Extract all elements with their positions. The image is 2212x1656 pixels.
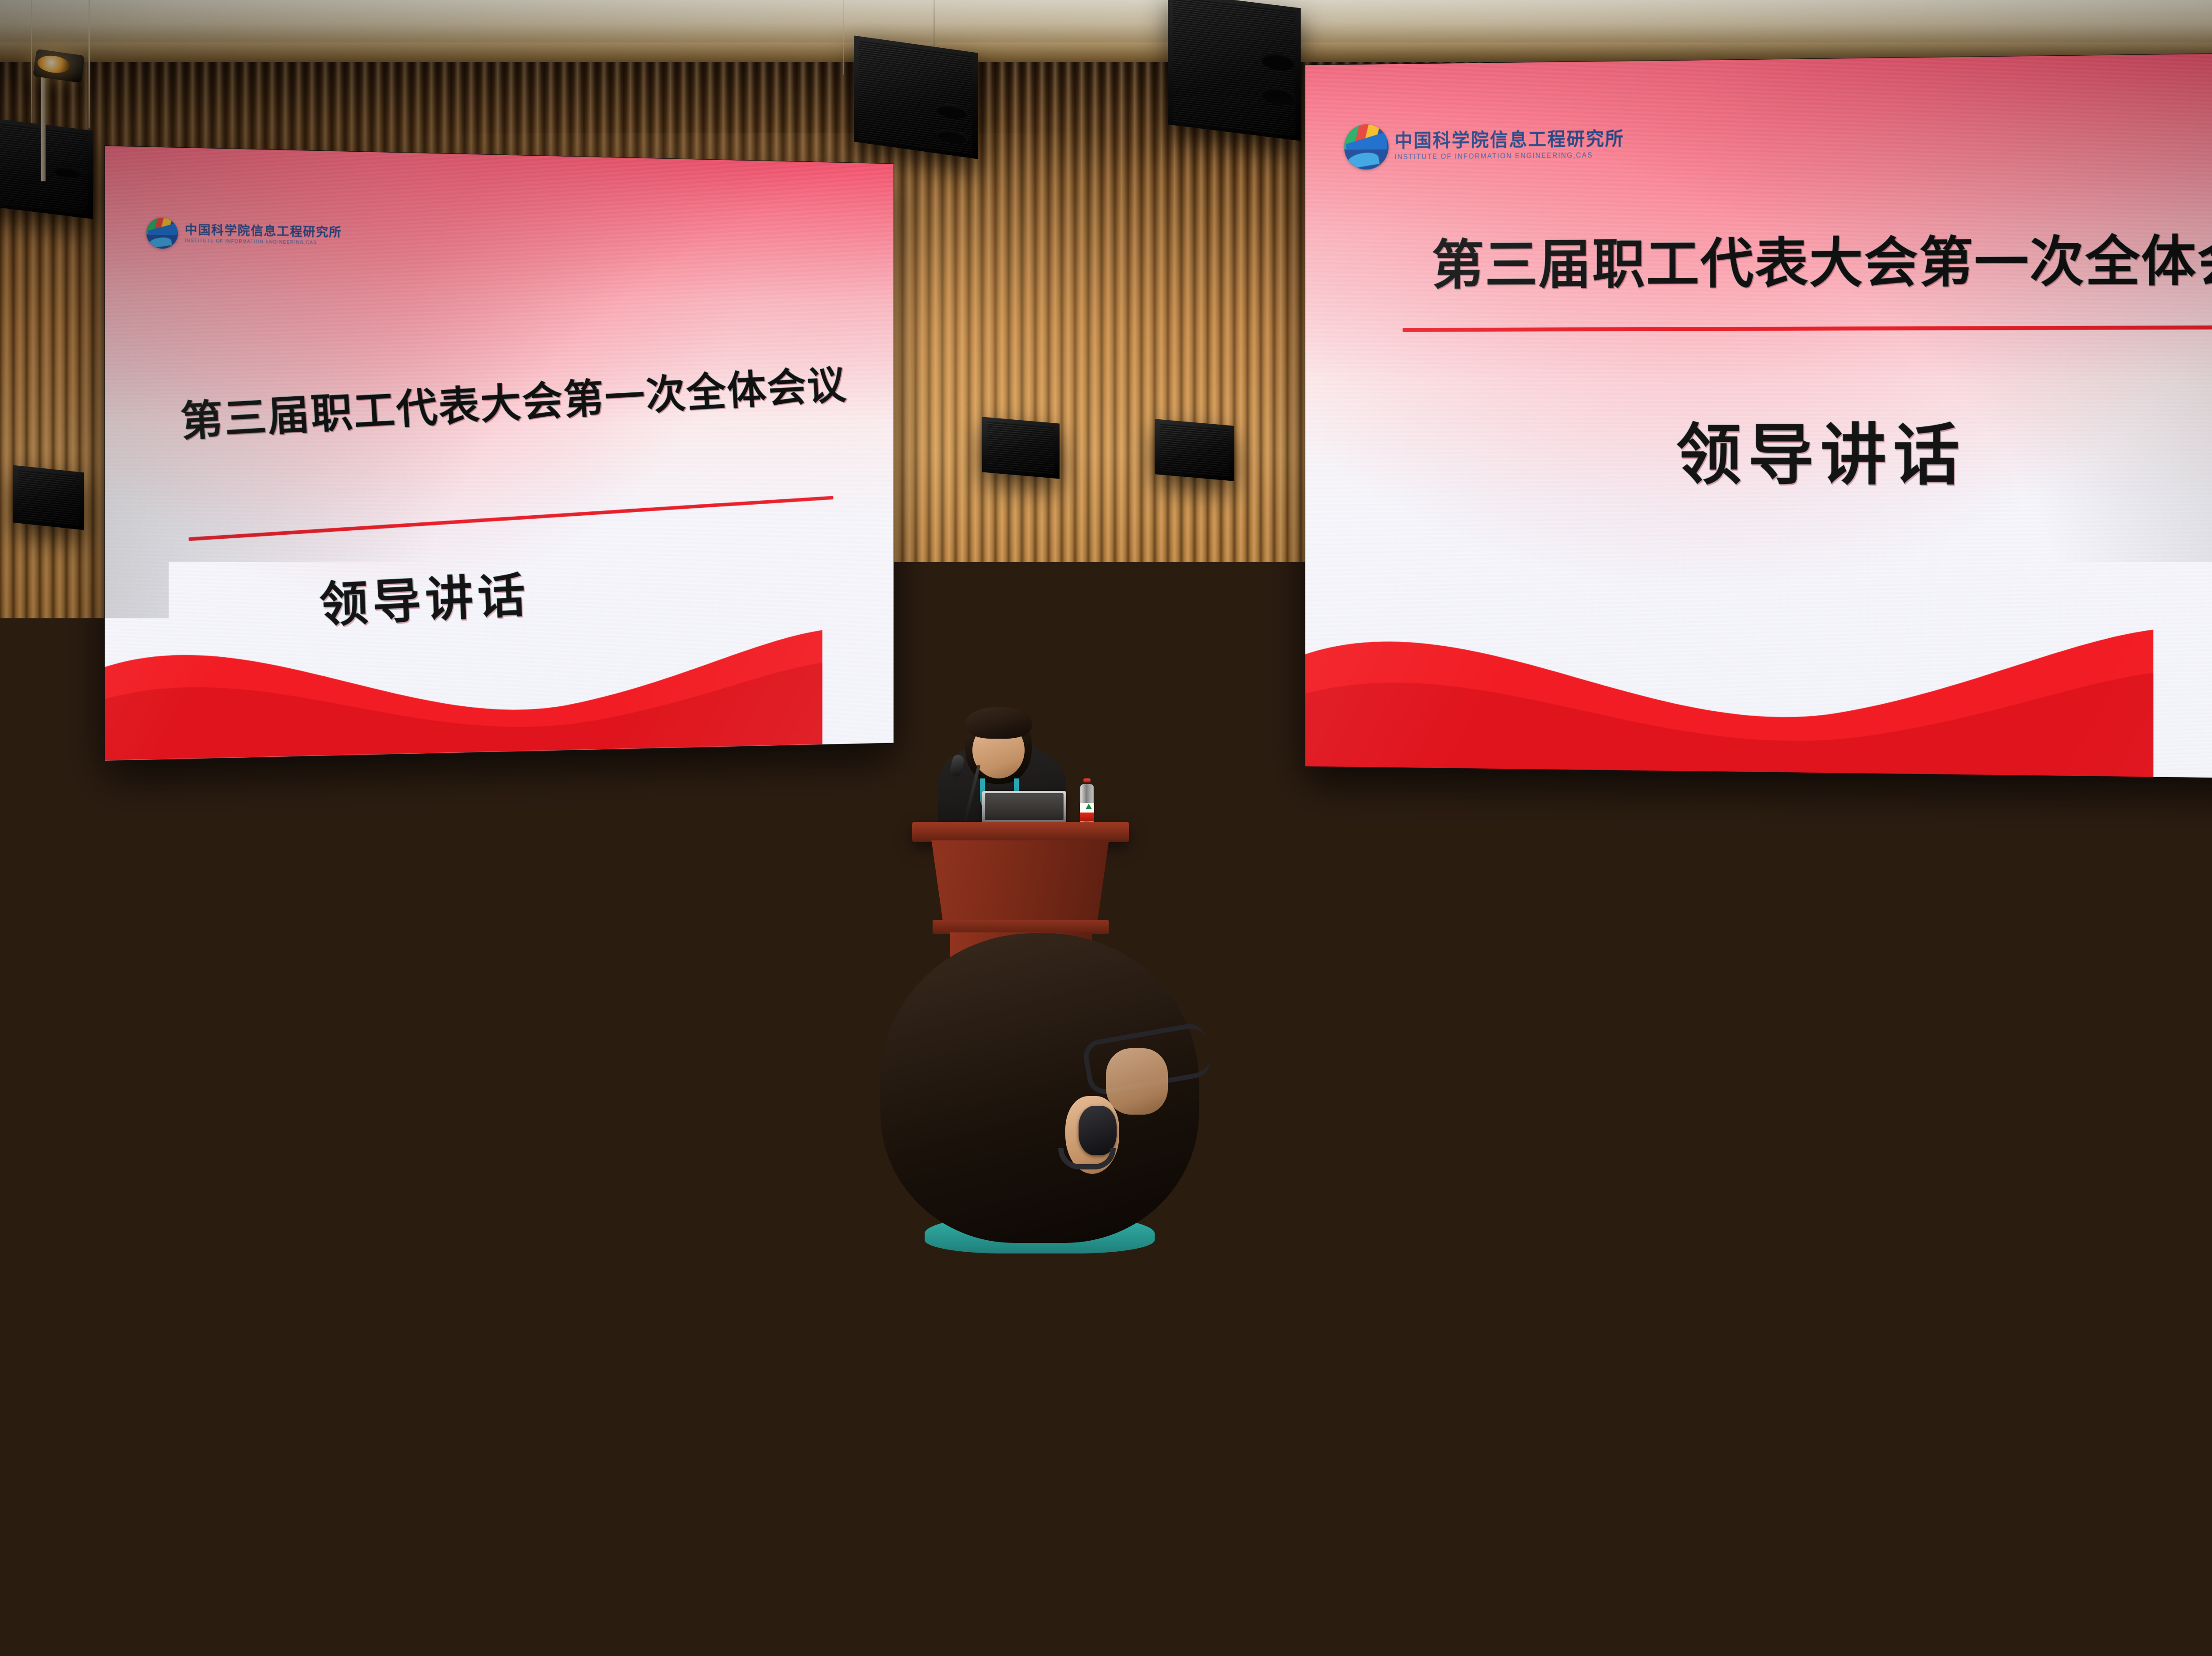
nongfu-logo-icon [49, 939, 55, 944]
nongfu-logo-icon [289, 943, 296, 948]
bottle-cap [287, 908, 296, 913]
speaker-hang-wire [843, 0, 844, 75]
podium-top [912, 822, 1129, 842]
nongfu-logo-icon [2030, 1236, 2036, 1241]
chair-back-front-left[interactable] [277, 1104, 426, 1240]
placard-lei-jun: 雷俊 [346, 951, 434, 996]
podium-water-bottle[interactable] [1079, 778, 1094, 825]
nongfu-logo-icon [1636, 1013, 1642, 1019]
speaker-grille [19, 470, 79, 525]
bottle-cap [2025, 1175, 2040, 1184]
wall-outlet[interactable] [812, 908, 833, 934]
paper-cup[interactable] [1717, 1020, 1753, 1053]
agenda-document[interactable] [1734, 1096, 1898, 1160]
agenda-document[interactable] [1248, 1068, 1394, 1127]
slide-title: 第三届职工代表大会第一次全体会议 [1432, 216, 2212, 299]
spotlight-arm [41, 75, 46, 181]
placard-name-text: 孟丹 [1313, 1198, 1369, 1231]
nongfu-logo-icon [1419, 1227, 1425, 1232]
bottle-cap [1632, 970, 1644, 976]
placard-meng-dan: 孟丹 [1283, 1190, 1399, 1239]
speaker-hang-wire [933, 0, 935, 49]
line-array-speaker [854, 35, 978, 159]
institute-name-cn: 中国科学院信息工程研究所 [1394, 130, 1624, 150]
lanyard-badge[interactable] [96, 1207, 170, 1252]
wall-outlet[interactable] [2098, 931, 2129, 970]
plastic-lid[interactable] [2159, 1347, 2208, 1372]
iie-cas-logo-icon [146, 218, 178, 249]
slide-red-wave [1305, 598, 2153, 777]
speaker-hair-fringe [965, 707, 1032, 739]
speaker-grille [1160, 424, 1229, 476]
line-array-speaker [1168, 0, 1301, 141]
tissue-box-right[interactable] [1967, 1024, 2100, 1076]
institute-name-en: INSTITUTE OF INFORMATION ENGINEERING,CAS [185, 239, 342, 246]
water-bottle[interactable] [1407, 1168, 1437, 1265]
water-bottle[interactable] [2017, 1175, 2048, 1276]
attendee-plaid-torso [796, 1216, 1363, 1656]
wall-outlet[interactable] [1199, 901, 1226, 938]
foreground-shadow-left [0, 1442, 354, 1656]
speaker-grille [987, 422, 1054, 474]
flower-bloom [269, 861, 290, 881]
speaker-hang-wire [31, 0, 32, 133]
institute-name-cn: 中国科学院信息工程研究所 [185, 224, 342, 238]
bottle-label [1408, 1218, 1436, 1257]
right-slide: 中国科学院信息工程研究所 INSTITUTE OF INFORMATION EN… [1305, 50, 2212, 781]
water-bottle[interactable] [41, 902, 61, 965]
tissue-box-left[interactable] [93, 925, 177, 964]
nongfu-logo-icon [1666, 1025, 1672, 1030]
flower-planter-right [1828, 971, 1886, 1042]
nongfu-logo-icon [1086, 804, 1092, 809]
bottle-cap [46, 902, 56, 908]
left-slide: 中国科学院信息工程研究所 INSTITUTE OF INFORMATION EN… [105, 146, 894, 761]
water-bottle[interactable] [281, 908, 302, 970]
paper-cup[interactable] [305, 937, 333, 964]
bottle-label [1657, 1020, 1679, 1049]
slide-red-wave [105, 605, 822, 761]
line-array-speaker [0, 117, 93, 219]
podium-laptop[interactable] [982, 791, 1066, 824]
conference-hall-photo: 中国科学院信息工程研究所 INSTITUTE OF INFORMATION EN… [0, 0, 2212, 1656]
wall-speaker [1155, 419, 1234, 481]
chair-seat-suit-man[interactable] [442, 1187, 628, 1286]
attendee-plaid-temple [1106, 1048, 1168, 1115]
bottle-cap [1415, 1168, 1429, 1177]
institute-logo-row: 中国科学院信息工程研究所 INSTITUTE OF INFORMATION EN… [146, 218, 342, 252]
placard-name-text: 雷俊 [367, 958, 411, 988]
iie-cas-logo-icon [1344, 124, 1388, 169]
slide-body-text: 领导讲话 [1676, 402, 1966, 498]
attendee-suit-hand [752, 1014, 790, 1046]
wall-outlet[interactable] [656, 902, 675, 929]
speaker-hang-wire [88, 0, 90, 128]
left-led-screen[interactable]: 中国科学院信息工程研究所 INSTITUTE OF INFORMATION EN… [104, 146, 894, 761]
wall-speaker [13, 465, 84, 530]
paper-cup[interactable] [66, 941, 95, 967]
flower-planter-left [230, 898, 280, 954]
bottle-label [2019, 1227, 2047, 1268]
wall-speaker [982, 417, 1060, 479]
institute-logo-row: 中国科学院信息工程研究所 INSTITUTE OF INFORMATION EN… [1344, 122, 1624, 170]
podium-body [924, 840, 1117, 923]
bottle-cap [1663, 981, 1674, 988]
bottle-cap [1083, 778, 1091, 782]
attendee-leather-head [1402, 901, 1517, 999]
right-led-screen[interactable]: 中国科学院信息工程研究所 INSTITUTE OF INFORMATION EN… [1305, 50, 2212, 782]
institute-name-en: INSTITUTE OF INFORMATION ENGINEERING,CAS [1394, 152, 1624, 161]
water-bottle[interactable] [1656, 981, 1680, 1055]
